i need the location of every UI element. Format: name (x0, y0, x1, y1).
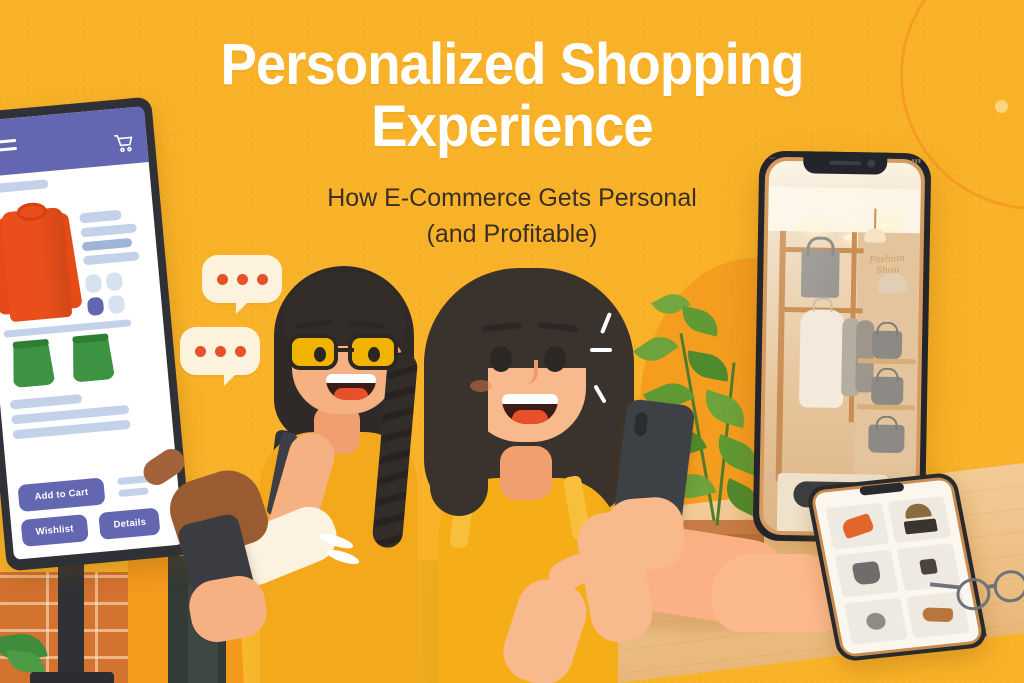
handbag-on-shelf (872, 331, 902, 360)
sparkle-line (590, 348, 612, 352)
decorative-dot (995, 100, 1008, 113)
kiosk-stand (58, 556, 84, 683)
hanging-bag (801, 249, 840, 298)
handbag-on-shelf (868, 424, 904, 453)
bubble-dot (237, 274, 248, 285)
details-button[interactable]: Details (99, 508, 161, 540)
description-block (10, 387, 163, 439)
recommended-products[interactable] (4, 329, 158, 388)
add-to-cart-button[interactable]: Add to Cart (17, 477, 105, 512)
hamburger-menu-icon[interactable] (0, 139, 16, 144)
subtitle-line-1: How E-Commerce Gets Personal (0, 180, 1024, 216)
kiosk-base (30, 672, 114, 683)
swatch-option-selected[interactable] (87, 297, 105, 316)
phone-holding-hand (604, 495, 687, 572)
green-skirt-thumb[interactable] (68, 333, 116, 383)
white-dress (799, 309, 845, 408)
neck (500, 446, 552, 500)
swatch-option[interactable] (106, 272, 124, 291)
handbag-on-shelf (871, 377, 903, 406)
cheek-blush (470, 380, 492, 392)
bubble-dot (215, 346, 226, 357)
color-swatches[interactable] (85, 269, 152, 316)
hair-top (444, 272, 618, 368)
bubble-dot (195, 346, 206, 357)
bubble-dot (257, 274, 268, 285)
bubble-dot (217, 274, 228, 285)
bubble-dot (235, 346, 246, 357)
grid-item-grey-backpack[interactable] (835, 550, 899, 597)
page-title: Personalized Shopping Experience (31, 34, 994, 158)
title-line-1: Personalized Shopping (31, 34, 994, 96)
clothing-rack-vertical (776, 231, 786, 481)
chat-bubble-lower (180, 327, 260, 375)
yellow-tinted-glasses-icon (288, 334, 402, 370)
front-camera-icon (867, 159, 875, 167)
shopper-smiling (408, 262, 698, 683)
wall-shelf (857, 404, 915, 410)
subtitle-line-2: (and Profitable) (0, 216, 1024, 252)
eye (544, 346, 566, 372)
status-bar-right: ▮▮▮ (912, 158, 922, 164)
wall-strip (128, 556, 168, 683)
desc-line (83, 251, 140, 265)
swatch-option[interactable] (108, 295, 126, 314)
grid-item-orange-shoe[interactable] (826, 503, 890, 550)
page-subtitle: How E-Commerce Gets Personal (and Profit… (0, 180, 1024, 252)
eye (490, 346, 512, 372)
swatch-option[interactable] (85, 274, 103, 293)
grid-item-hat-and-bag[interactable] (887, 496, 951, 543)
product-detail-kiosk[interactable]: Add to Cart Wishlist Details (0, 97, 192, 572)
wishlist-button[interactable]: Wishlist (21, 514, 89, 547)
title-line-2: Experience (31, 96, 994, 158)
chat-bubble-upper (202, 255, 282, 303)
desc-line (10, 394, 83, 409)
wall-shelf (858, 358, 916, 364)
grid-item-grey-stone-bag[interactable] (844, 597, 908, 644)
illustration-canvas: Fashion Shop Buy now ••• ▮▮▮ (0, 0, 1024, 683)
speaker-slit (829, 161, 861, 166)
green-skirt-thumb[interactable] (8, 338, 56, 388)
